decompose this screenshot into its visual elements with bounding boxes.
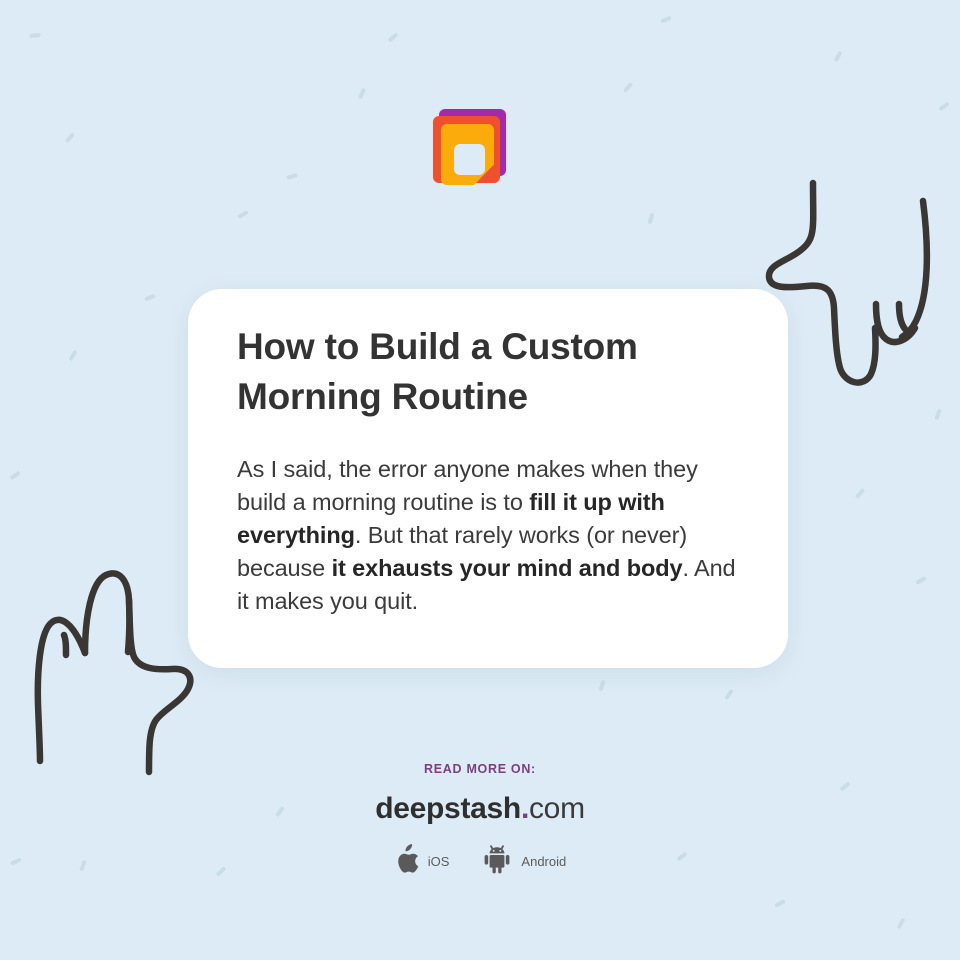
confetti-dash — [855, 488, 865, 499]
poster-canvas: How to Build a Custom Morning Routine As… — [0, 0, 960, 960]
confetti-dash — [915, 576, 927, 585]
footer: READ MORE ON: deepstash.com iOS — [0, 762, 960, 880]
confetti-dash — [286, 173, 298, 180]
wordmark-name: deepstash — [375, 792, 521, 825]
confetti-dash — [9, 471, 20, 481]
android-store-label: Android — [521, 854, 566, 869]
confetti-dash — [897, 918, 906, 930]
confetti-dash — [29, 33, 40, 38]
ios-store-label: iOS — [428, 854, 450, 869]
deepstash-cube-logo — [425, 103, 520, 198]
read-more-label: READ MORE ON: — [0, 762, 960, 776]
confetti-dash — [648, 213, 655, 225]
confetti-dash — [388, 32, 399, 42]
confetti-dash — [724, 689, 734, 700]
confetti-dash — [660, 16, 672, 24]
card-body-text: As I said, the error anyone makes when t… — [237, 453, 740, 618]
confetti-dash — [144, 294, 156, 302]
confetti-dash — [358, 88, 366, 100]
confetti-dash — [598, 680, 605, 692]
deepstash-wordmark[interactable]: deepstash.com — [0, 793, 960, 825]
app-store-badges: iOS Android — [0, 843, 960, 880]
confetti-dash — [65, 132, 75, 143]
logo-inner-window — [454, 144, 485, 175]
confetti-dash — [69, 350, 78, 362]
confetti-dash — [938, 102, 949, 112]
ios-store-badge[interactable]: iOS — [394, 844, 450, 880]
confetti-dash — [834, 51, 843, 63]
wordmark-tld: com — [529, 792, 585, 825]
android-store-badge[interactable]: Android — [481, 843, 566, 880]
android-icon — [481, 843, 513, 880]
confetti-dash — [934, 409, 942, 421]
page-title: How to Build a Custom Morning Routine — [237, 322, 740, 422]
confetti-dash — [237, 210, 249, 219]
apple-icon — [394, 844, 420, 880]
wordmark-dot: . — [521, 792, 529, 825]
confetti-dash — [623, 82, 633, 93]
content-card: How to Build a Custom Morning Routine As… — [188, 289, 788, 668]
confetti-dash — [774, 899, 786, 908]
body-text-emphasis: it exhausts your mind and body — [332, 555, 683, 581]
